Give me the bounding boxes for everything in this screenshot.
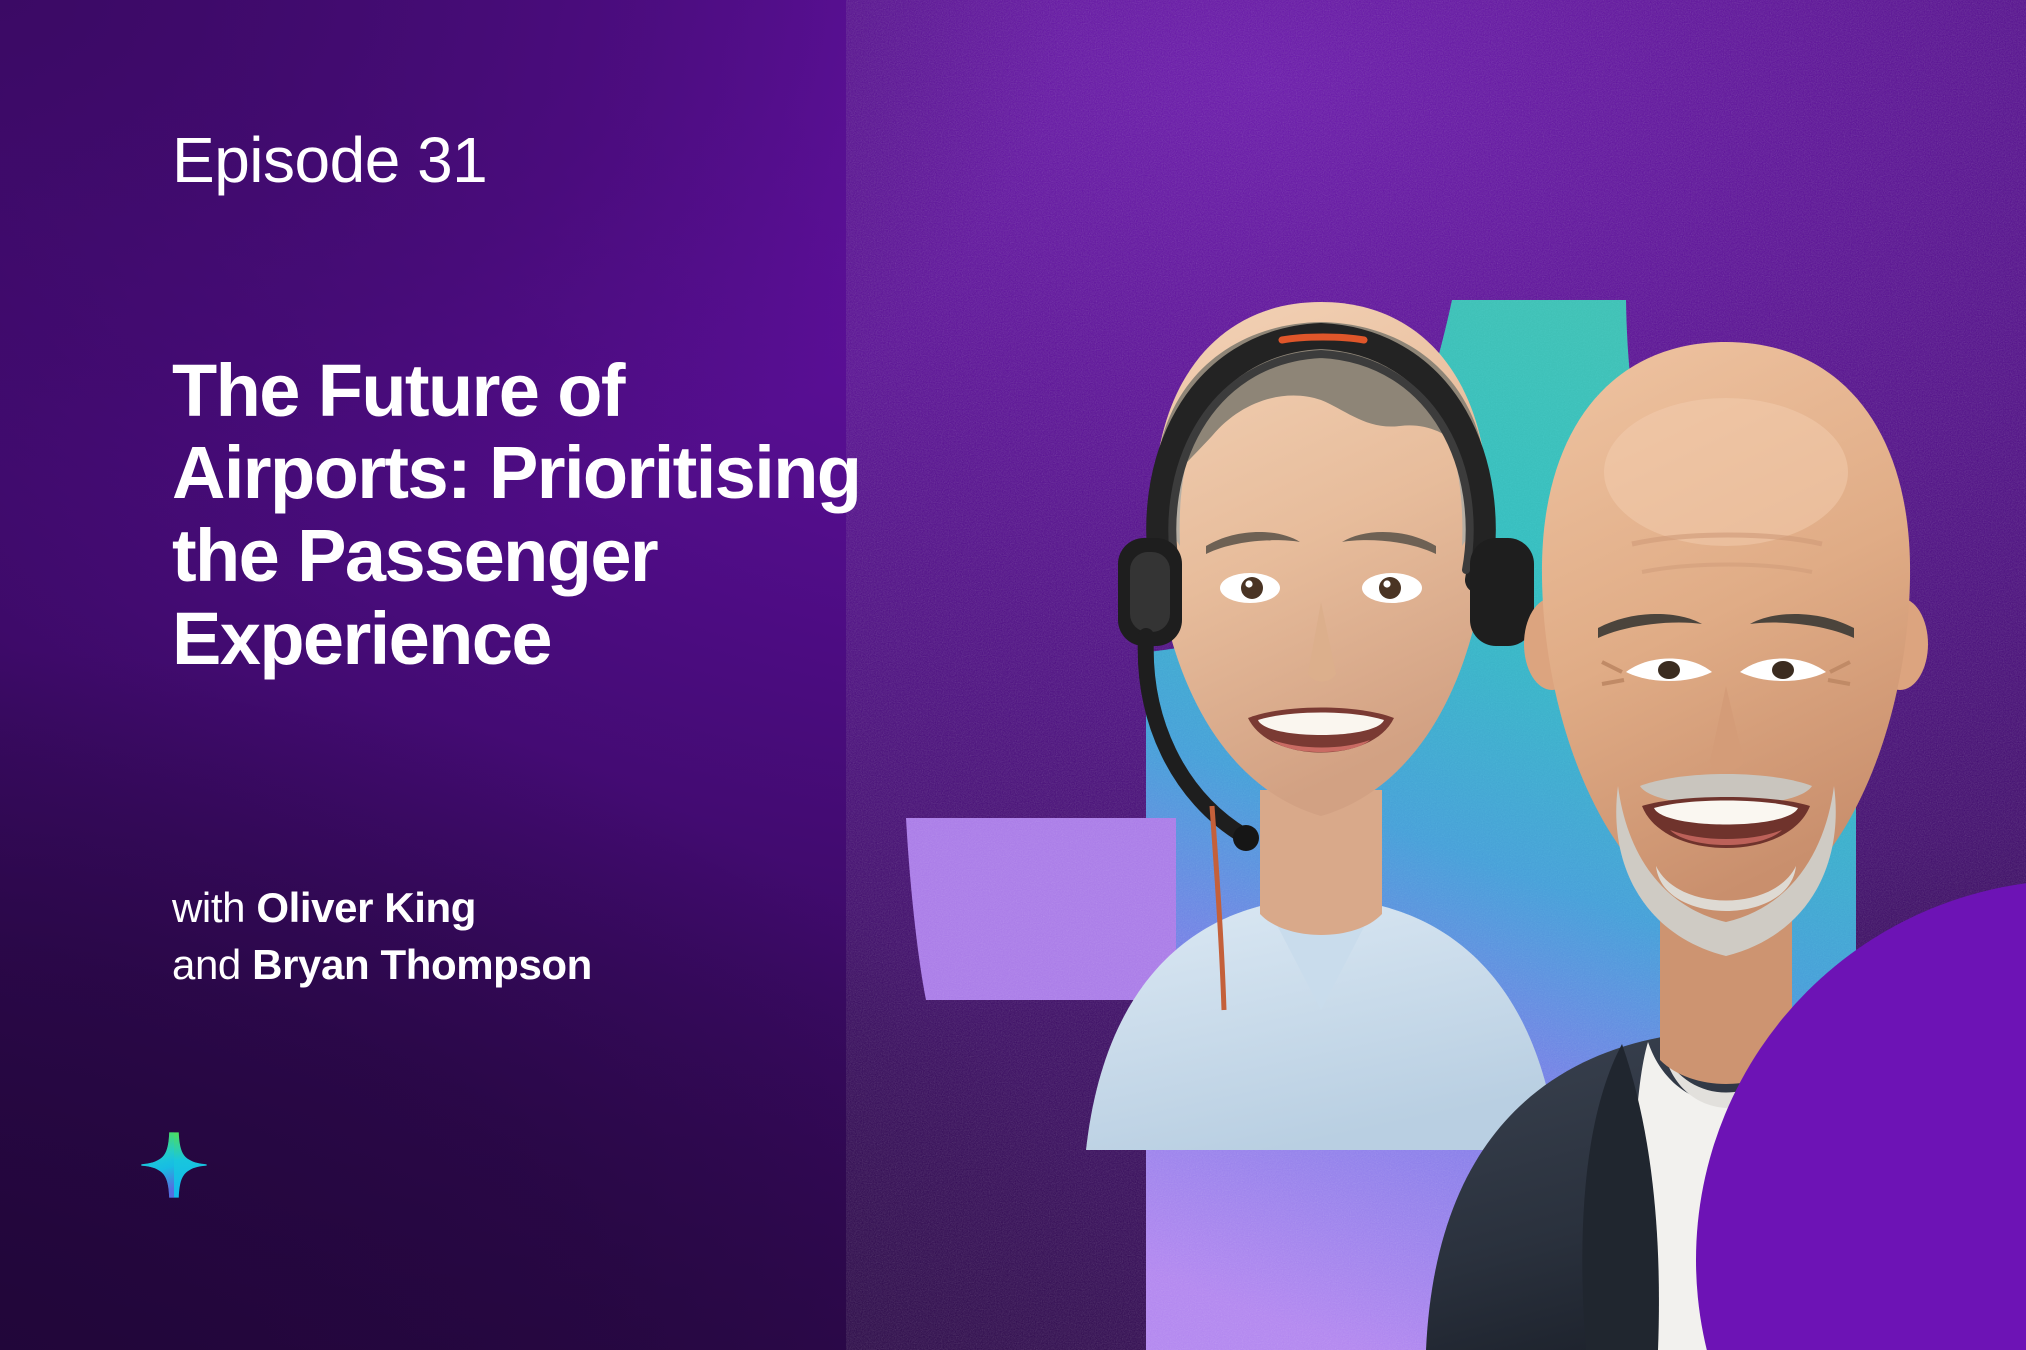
episode-number-label: Episode 31 (172, 128, 487, 192)
text-column: Episode 31 The Future of Airports: Prior… (172, 0, 872, 1350)
credit-prefix-with: with (172, 884, 256, 931)
speaker-credits: with Oliver King and Bryan Thompson (172, 880, 872, 993)
artwork-region (846, 0, 2026, 1350)
episode-cover-card: Episode 31 The Future of Airports: Prior… (0, 0, 2026, 1350)
speaker-name-bryan-thompson: Bryan Thompson (252, 941, 592, 988)
episode-title: The Future of Airports: Prioritising the… (172, 350, 872, 682)
speaker-name-oliver-king: Oliver King (256, 884, 476, 931)
credit-line-2: and Bryan Thompson (172, 937, 872, 994)
credit-prefix-and: and (172, 941, 252, 988)
credit-line-1: with Oliver King (172, 880, 872, 937)
four-point-sparkle-logo-icon (140, 1131, 208, 1199)
